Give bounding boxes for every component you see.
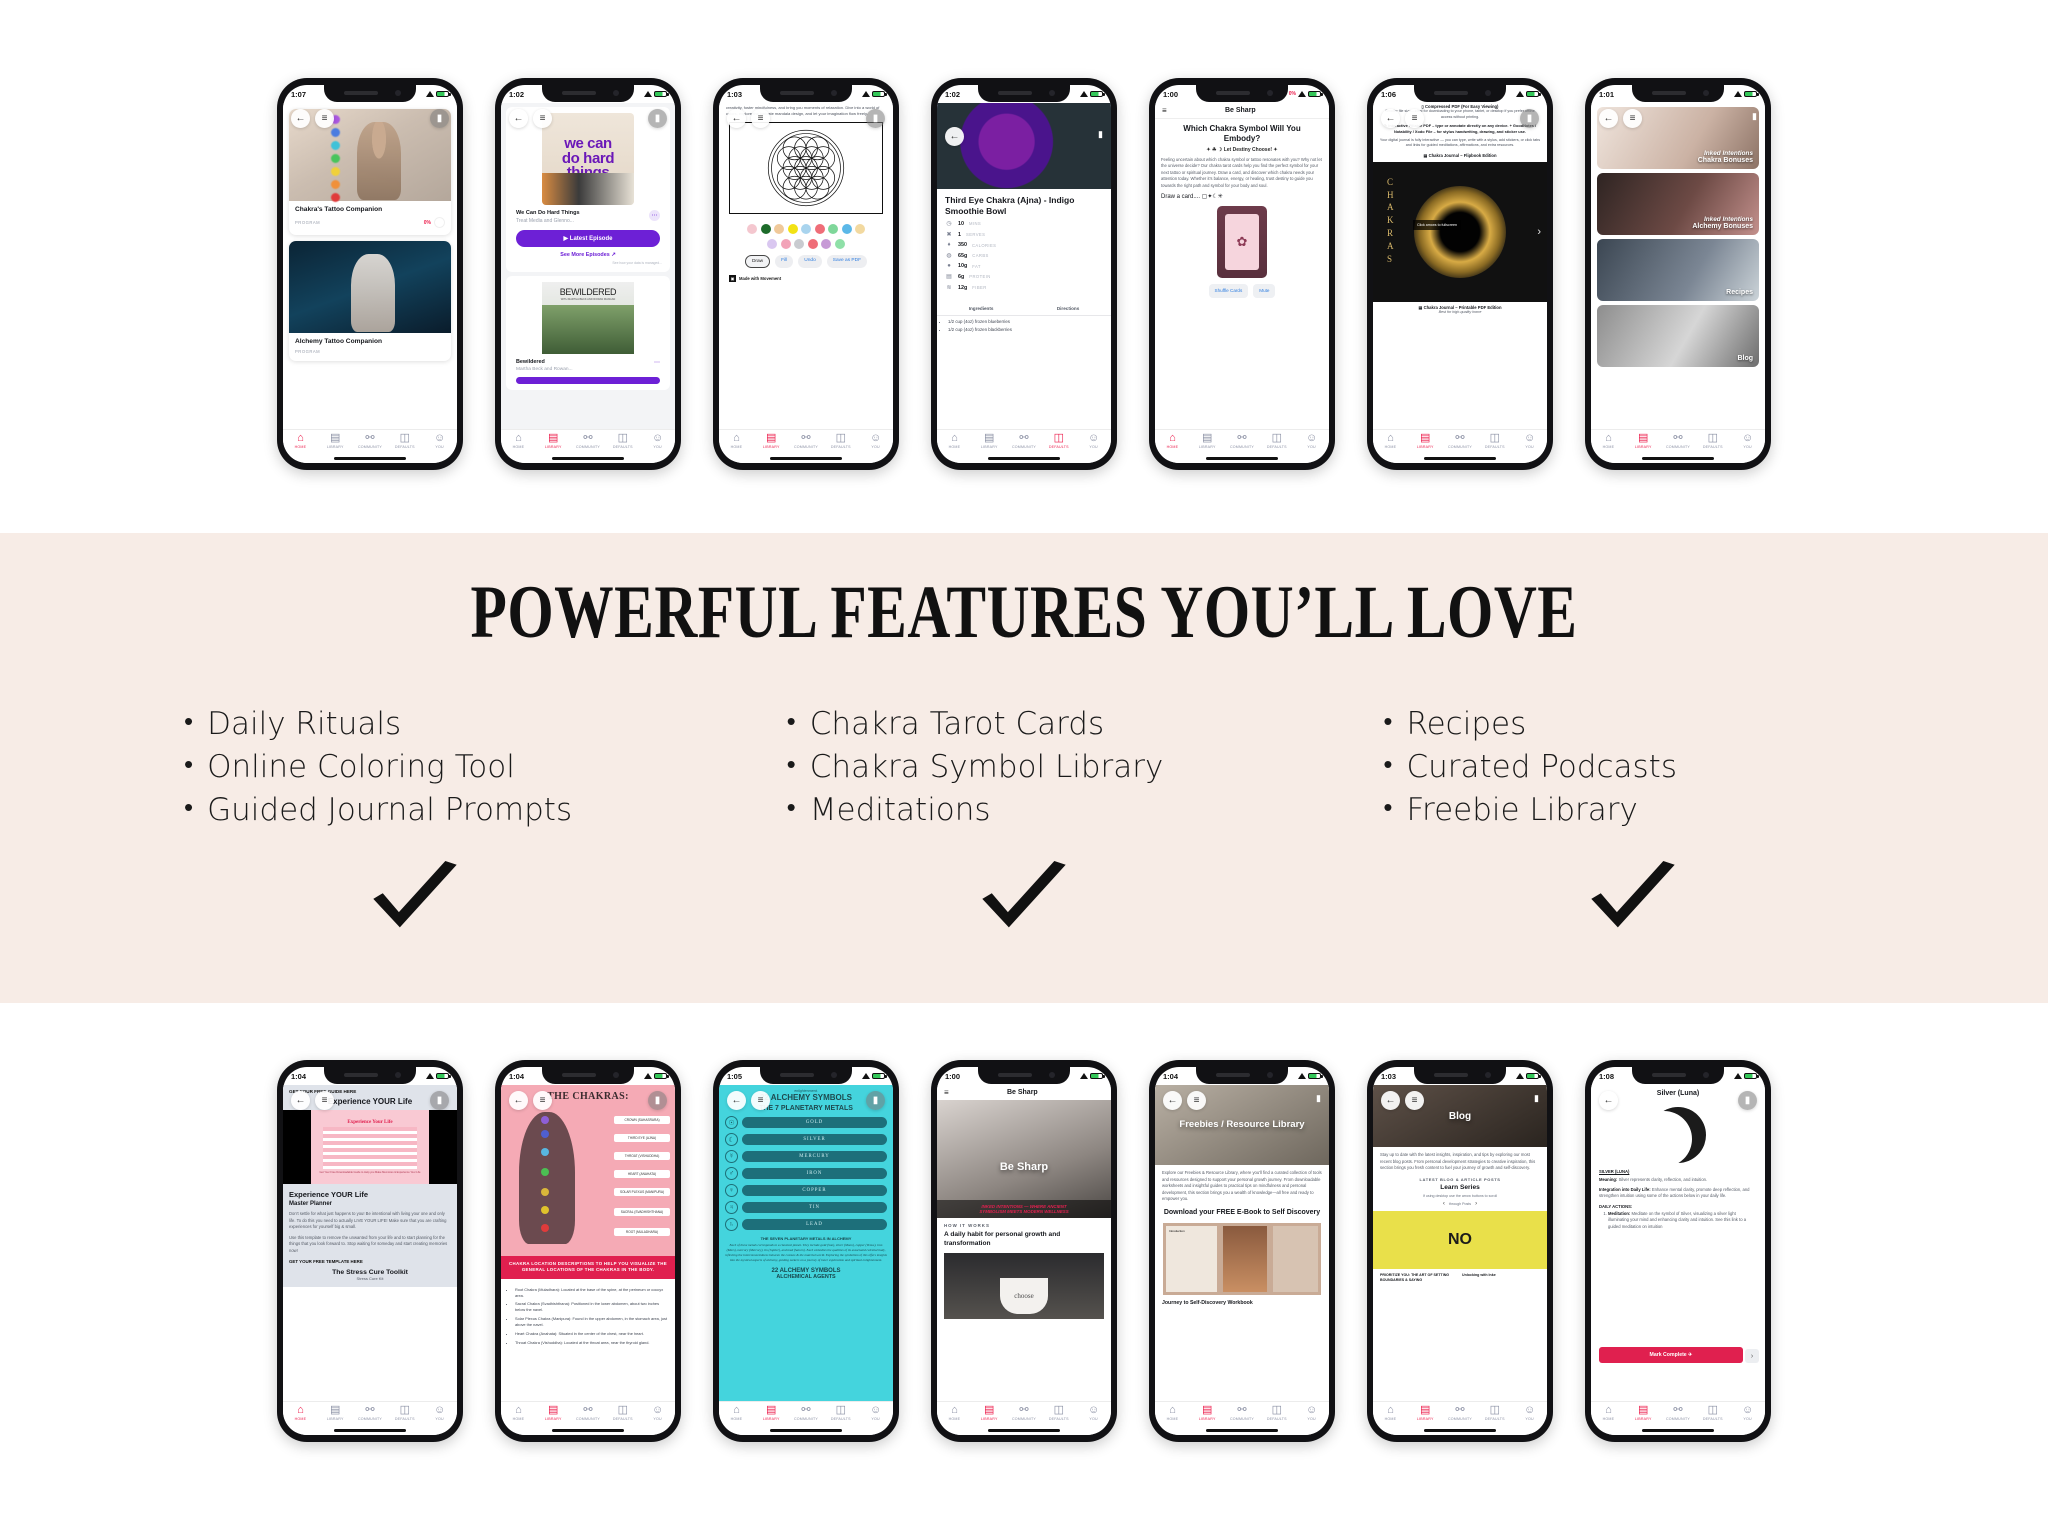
section-label: HOW IT WORKS bbox=[944, 1223, 1104, 1228]
community-icon: ⚯ bbox=[1673, 1405, 1682, 1416]
swatch[interactable] bbox=[767, 239, 777, 249]
battery-icon bbox=[1308, 91, 1321, 98]
tab-defaults[interactable]: ◫DEFAULTS bbox=[605, 1405, 640, 1421]
tab-community[interactable]: ⚯COMMUNITY bbox=[353, 1405, 388, 1421]
chakra-bullet: Throat Chakra (Vishuddha): Located at th… bbox=[515, 1340, 669, 1346]
tab-you[interactable]: ☺YOU bbox=[858, 433, 893, 449]
bullet-icon: • bbox=[184, 746, 193, 785]
defaults-icon: ◫ bbox=[618, 1405, 628, 1416]
tab-home[interactable]: ⌂HOME bbox=[937, 433, 972, 449]
tab-community[interactable]: ⚯COMMUNITY bbox=[353, 433, 388, 449]
defaults-icon: ◫ bbox=[1272, 433, 1282, 444]
menu-icon[interactable]: ≡ bbox=[751, 1091, 770, 1110]
phone-be-sharp-habit: 1:00 ≡ Be Sharp Be Sharp INKED INTENTION… bbox=[931, 1060, 1117, 1442]
tagline: A daily habit for personal growth and tr… bbox=[944, 1231, 1104, 1248]
tab-home[interactable]: ⌂HOME bbox=[501, 1405, 536, 1421]
bullet-icon: • bbox=[787, 746, 796, 785]
quiz-body: Feeling uncertain about which chakra sym… bbox=[1161, 157, 1323, 190]
tarot-controls[interactable]: Shuffle Cards Mute bbox=[1161, 284, 1323, 298]
nav-bubbles[interactable]: ← ≡ bbox=[1163, 1091, 1206, 1110]
progress-label: 0% bbox=[1289, 91, 1296, 97]
tab-community[interactable]: ⚯COMMUNITY bbox=[1007, 1405, 1042, 1421]
phone-coloring-tool: 1:03 ← ≡ ▮ creativity, foster mindfulnes… bbox=[713, 78, 899, 470]
wifi-icon bbox=[1734, 1073, 1742, 1079]
tab-community[interactable]: ⚯COMMUNITY bbox=[1443, 1405, 1478, 1421]
tab-library[interactable]: ▤LIBRARY bbox=[1190, 433, 1225, 449]
tab-community[interactable]: ⚯COMMUNITY bbox=[1225, 433, 1260, 449]
latest-episode-button[interactable]: ▶ Latest Episode bbox=[516, 230, 660, 247]
check-mark-icon bbox=[976, 861, 1072, 933]
nav-bubbles[interactable]: ← ≡ bbox=[727, 109, 770, 128]
chevron-left-icon[interactable]: ‹ bbox=[1443, 1201, 1445, 1207]
nutrition-row: ●10gFAT bbox=[945, 263, 1103, 269]
defaults-icon: ◫ bbox=[1708, 1405, 1718, 1416]
wifi-icon bbox=[862, 91, 870, 97]
daily-label: DAILY ACTIONS: bbox=[1599, 1204, 1757, 1209]
bookmark-icon[interactable]: ▮ bbox=[648, 1091, 667, 1110]
battery-icon bbox=[1090, 91, 1103, 98]
nav-bubbles[interactable]: ← ≡ bbox=[1599, 109, 1642, 128]
screen-content: creativity, foster mindfulness, and brin… bbox=[719, 103, 893, 429]
tab-home[interactable]: ⌂HOME bbox=[937, 1405, 972, 1421]
tab-home[interactable]: ⌂HOME bbox=[283, 433, 318, 449]
undo-button[interactable]: Undo bbox=[798, 255, 821, 268]
draw-button[interactable]: Draw bbox=[745, 255, 770, 268]
library-icon: ▤ bbox=[1202, 433, 1212, 444]
color-palette-row-1[interactable] bbox=[719, 219, 893, 234]
swatch[interactable] bbox=[842, 224, 852, 234]
home-indicator bbox=[1424, 1429, 1496, 1432]
card-title: Chakra's Tattoo Companion bbox=[295, 206, 445, 214]
tab-defaults[interactable]: ◫DEFAULTS bbox=[823, 1405, 858, 1421]
planner-preview: Experience Your Life Get Your Free Downl… bbox=[283, 1110, 457, 1184]
chakra-dot-heart bbox=[541, 1168, 549, 1176]
screen-content: Chakra's Tattoo Companion PROGRAM 0% bbox=[283, 103, 457, 429]
tab-defaults[interactable]: ◫DEFAULTS bbox=[387, 433, 422, 449]
tab-you[interactable]: ☺YOU bbox=[640, 1405, 675, 1421]
tab-home[interactable]: ⌂HOME bbox=[1155, 433, 1190, 449]
community-icon: ⚯ bbox=[1019, 433, 1028, 444]
shuffle-cards-button[interactable]: Shuffle Cards bbox=[1209, 284, 1249, 298]
metal-row[interactable]: ♂IRON bbox=[725, 1167, 887, 1180]
nav-bubbles[interactable]: ← ≡ bbox=[1381, 109, 1424, 128]
swatch[interactable] bbox=[808, 239, 818, 249]
more-options-icon[interactable]: ⋯ bbox=[649, 210, 660, 221]
library-icon: ▤ bbox=[1638, 1405, 1648, 1416]
program-card[interactable]: Alchemy Tattoo Companion PROGRAM bbox=[289, 241, 451, 361]
mug-word: choose bbox=[1000, 1278, 1048, 1314]
tab-you[interactable]: ☺YOU bbox=[1730, 1405, 1765, 1421]
you-icon: ☺ bbox=[1742, 433, 1753, 444]
swatch[interactable] bbox=[781, 239, 791, 249]
bullet-icon: • bbox=[1383, 789, 1392, 828]
phone-chakra-tattoo-companion: 1:07 ← ≡ ▮ bbox=[277, 78, 463, 470]
bookmark-icon[interactable]: ▮ bbox=[1738, 1091, 1757, 1110]
tab-ingredients[interactable]: Ingredients bbox=[969, 306, 994, 311]
card-title: Alchemy Tattoo Companion bbox=[295, 338, 445, 346]
mute-button[interactable]: Mute bbox=[1253, 284, 1275, 298]
screen-content: THE CHAKRAS: CROWN (SAHASRARA) THIRD EYE… bbox=[501, 1085, 675, 1401]
menu-tile-blog[interactable]: Blog bbox=[1597, 305, 1759, 367]
feature-item: •Daily Rituals bbox=[184, 703, 739, 746]
swatch[interactable] bbox=[761, 224, 771, 234]
chakra-label: ROOT (MULADHARA) bbox=[614, 1228, 670, 1236]
nutrition-row: ▤6gPROTEIN bbox=[945, 273, 1103, 280]
tab-defaults[interactable]: ◫DEFAULTS bbox=[1259, 433, 1294, 449]
tab-defaults[interactable]: ◫DEFAULTS bbox=[387, 1405, 422, 1421]
bookmark-icon[interactable]: ▮ bbox=[430, 1091, 449, 1110]
toolkit-title: The Stress Cure Toolkit bbox=[289, 1269, 451, 1276]
ebook-cta[interactable]: Download your FREE E-Book to Self Discov… bbox=[1155, 1209, 1329, 1218]
swatch[interactable] bbox=[835, 239, 845, 249]
tab-defaults[interactable]: ◫DEFAULTS bbox=[1041, 1405, 1076, 1421]
tab-defaults[interactable]: ◫DEFAULTS bbox=[1259, 1405, 1294, 1421]
nav-bubbles[interactable]: ← ≡ bbox=[1381, 1091, 1424, 1110]
tab-home[interactable]: ⌂HOME bbox=[283, 1405, 318, 1421]
chakra-bullet: Heart Chakra (Anahata): Situated in the … bbox=[515, 1331, 669, 1337]
community-icon: ⚯ bbox=[365, 1405, 374, 1416]
community-icon: ⚯ bbox=[1019, 1405, 1028, 1416]
tab-you[interactable]: ☺YOU bbox=[1294, 433, 1329, 449]
section-body: Each of these metals corresponds to a cl… bbox=[725, 1243, 887, 1263]
tab-community[interactable]: ⚯COMMUNITY bbox=[1443, 433, 1478, 449]
screen-content: Blog Stay up to date with the latest ins… bbox=[1373, 1085, 1547, 1401]
check-row bbox=[0, 861, 2048, 933]
you-icon: ☺ bbox=[1306, 1405, 1317, 1416]
daily-action-item: Meditation: Meditate on the symbol of Si… bbox=[1608, 1211, 1757, 1231]
home-icon: ⌂ bbox=[733, 1405, 740, 1416]
swatch[interactable] bbox=[747, 224, 757, 234]
tab-you[interactable]: ☺YOU bbox=[1512, 1405, 1547, 1421]
bookmark-icon[interactable]: ▮ bbox=[648, 109, 667, 128]
defaults-icon: ◫ bbox=[618, 433, 628, 444]
swatch[interactable] bbox=[855, 224, 865, 234]
printable-sub: Best for high-quality home bbox=[1373, 310, 1547, 314]
tab-library[interactable]: ▤LIBRARY bbox=[318, 1405, 353, 1421]
tab-library[interactable]: ▤LIBRARY bbox=[318, 433, 353, 449]
flipbook-viewer[interactable]: CHAKRAS Click arrows to fullscreen › bbox=[1373, 162, 1547, 302]
tab-defaults[interactable]: ◫DEFAULTS bbox=[1695, 433, 1730, 449]
tin-symbol-icon: ♃ bbox=[725, 1201, 738, 1214]
status-time: 1:07 bbox=[291, 90, 306, 99]
menu-icon[interactable]: ≡ bbox=[1623, 109, 1642, 128]
marketing-showcase-page: 1:07 ← ≡ ▮ bbox=[0, 0, 2048, 1536]
integration-row: Integration into Daily Life: Enhance men… bbox=[1599, 1187, 1757, 1200]
nav-bubbles[interactable]: ← ≡ bbox=[291, 109, 334, 128]
back-icon[interactable]: ← bbox=[727, 1091, 746, 1110]
iron-symbol-icon: ♂ bbox=[725, 1167, 738, 1180]
tab-defaults[interactable]: ◫DEFAULTS bbox=[1477, 433, 1512, 449]
flower-of-life-icon bbox=[765, 127, 847, 209]
bookmark-icon[interactable]: ▮ bbox=[1534, 1093, 1539, 1104]
tab-you[interactable]: ☺YOU bbox=[1512, 433, 1547, 449]
status-time: 1:08 bbox=[1599, 1072, 1614, 1081]
tab-you[interactable]: ☺YOU bbox=[858, 1405, 893, 1421]
latest-episode-button-2[interactable] bbox=[516, 377, 660, 384]
tab-you[interactable]: ☺YOU bbox=[1076, 1405, 1111, 1421]
swatch[interactable] bbox=[828, 224, 838, 234]
wifi-icon bbox=[1516, 91, 1524, 97]
tarot-card[interactable]: ✿ bbox=[1217, 206, 1267, 278]
tab-defaults[interactable]: ◫DEFAULTS bbox=[1695, 1405, 1730, 1421]
nav-bubbles[interactable]: ← ≡ bbox=[291, 1091, 334, 1110]
metal-row[interactable]: ☉GOLD bbox=[725, 1116, 887, 1129]
metal-row[interactable]: ♀COPPER bbox=[725, 1184, 887, 1197]
defaults-icon: ◫ bbox=[1490, 1405, 1500, 1416]
tab-community[interactable]: ⚯COMMUNITY bbox=[1007, 433, 1042, 449]
you-icon: ☺ bbox=[652, 433, 663, 444]
tab-community[interactable]: ⚯COMMUNITY bbox=[571, 1405, 606, 1421]
metal-row[interactable]: ☾SILVER bbox=[725, 1133, 887, 1146]
back-icon[interactable]: ← bbox=[945, 127, 964, 146]
back-icon[interactable]: ← bbox=[291, 109, 310, 128]
post-title-2[interactable]: Unlocking with Inke bbox=[1462, 1273, 1540, 1283]
menu-icon[interactable]: ≡ bbox=[1405, 109, 1424, 128]
bookmark-icon[interactable]: ▮ bbox=[1098, 129, 1103, 140]
defaults-icon: ◫ bbox=[400, 433, 410, 444]
mark-complete-button[interactable]: Mark Complete ✈ bbox=[1599, 1347, 1743, 1363]
tab-community[interactable]: ⚯COMMUNITY bbox=[1661, 1405, 1696, 1421]
menu-icon[interactable]: ≡ bbox=[315, 1091, 334, 1110]
menu-icon[interactable]: ≡ bbox=[751, 109, 770, 128]
bookmark-icon[interactable]: ▮ bbox=[1520, 109, 1539, 128]
bookmark-icon[interactable]: ▮ bbox=[430, 109, 449, 128]
tab-home[interactable]: ⌂HOME bbox=[1591, 1405, 1626, 1421]
home-indicator bbox=[1206, 457, 1278, 460]
silver-symbol-icon: ☾ bbox=[725, 1133, 738, 1146]
tab-you[interactable]: ☺YOU bbox=[1294, 1405, 1329, 1421]
back-icon[interactable]: ← bbox=[1599, 1091, 1618, 1110]
menu-icon[interactable]: ≡ bbox=[1405, 1091, 1424, 1110]
feature-item: •Chakra Tarot Cards bbox=[787, 703, 1342, 746]
nutrition-row: ◍65gCARBS bbox=[945, 252, 1103, 259]
back-icon[interactable]: ← bbox=[1163, 1091, 1182, 1110]
swatch[interactable] bbox=[821, 239, 831, 249]
nav-bubbles[interactable]: ← ≡ bbox=[509, 109, 552, 128]
descriptions-banner: CHAKRA LOCATION DESCRIPTIONS TO HELP YOU… bbox=[501, 1256, 675, 1279]
top-phone-row: 1:07 ← ≡ ▮ bbox=[0, 78, 2048, 470]
draw-card-label: Draw a card.... ▢✦☾✳ bbox=[1161, 193, 1323, 200]
toolkit-sub: Stress Cure Kit bbox=[289, 1276, 451, 1281]
home-indicator bbox=[988, 457, 1060, 460]
back-icon[interactable]: ← bbox=[727, 109, 746, 128]
menu-tile-alchemy-bonuses[interactable]: Inked Intentions Alchemy Bonuses bbox=[1597, 173, 1759, 235]
back-icon[interactable]: ← bbox=[509, 109, 528, 128]
metal-row[interactable]: ♃TIN bbox=[725, 1201, 887, 1214]
tab-defaults[interactable]: ◫DEFAULTS bbox=[1477, 1405, 1512, 1421]
tab-library[interactable]: ▤LIBRARY bbox=[972, 1405, 1007, 1421]
save-pdf-button[interactable]: Save as PDF bbox=[827, 255, 867, 268]
community-icon: ⚯ bbox=[1455, 433, 1464, 444]
tab-library[interactable]: ▤LIBRARY bbox=[1408, 1405, 1443, 1421]
planner-title: Experience YOUR Life bbox=[289, 1190, 451, 1199]
tab-defaults[interactable]: ◫DEFAULTS bbox=[605, 433, 640, 449]
tab-home[interactable]: ⌂HOME bbox=[1373, 433, 1408, 449]
tab-defaults[interactable]: ◫DEFAULTS bbox=[1041, 433, 1076, 449]
wifi-icon bbox=[862, 1073, 870, 1079]
blog-body: Stay up to date with the latest insights… bbox=[1373, 1147, 1547, 1172]
home-indicator bbox=[1424, 457, 1496, 460]
feature-item: •Chakra Symbol Library bbox=[787, 746, 1342, 789]
back-icon[interactable]: ← bbox=[1381, 109, 1400, 128]
menu-icon[interactable]: ≡ bbox=[1187, 1091, 1206, 1110]
tool-row[interactable]: Draw Fill Undo Save as PDF bbox=[719, 249, 893, 268]
section-title: THE SEVEN PLANETARY METALS IN ALCHEMY bbox=[725, 1236, 887, 1241]
mercury-symbol-icon: ☿ bbox=[725, 1150, 738, 1163]
back-icon[interactable]: ← bbox=[1381, 1091, 1400, 1110]
home-icon: ⌂ bbox=[951, 1405, 958, 1416]
menu-icon[interactable]: ≡ bbox=[533, 109, 552, 128]
tab-library[interactable]: ▤LIBRARY bbox=[1408, 433, 1443, 449]
tab-home[interactable]: ⌂HOME bbox=[1373, 1405, 1408, 1421]
menu-tile-recipes[interactable]: Recipes bbox=[1597, 239, 1759, 301]
mug-photo: choose bbox=[944, 1253, 1104, 1319]
nav-bubbles[interactable]: ← bbox=[945, 127, 964, 146]
recipe-tabs[interactable]: Ingredients Directions bbox=[937, 302, 1111, 316]
status-time: 1:03 bbox=[1381, 1072, 1396, 1081]
color-palette-row-2[interactable] bbox=[719, 234, 893, 249]
tab-community[interactable]: ⚯COMMUNITY bbox=[789, 433, 824, 449]
back-icon[interactable]: ← bbox=[1599, 109, 1618, 128]
metal-row[interactable]: ☿MERCURY bbox=[725, 1150, 887, 1163]
tab-defaults[interactable]: ◫DEFAULTS bbox=[823, 433, 858, 449]
menu-icon[interactable]: ≡ bbox=[533, 1091, 552, 1110]
tab-library[interactable]: ▤LIBRARY bbox=[754, 1405, 789, 1421]
tab-library[interactable]: ▤LIBRARY bbox=[536, 433, 571, 449]
tab-library[interactable]: ▤LIBRARY bbox=[972, 433, 1007, 449]
phone-chakra-journal: 1:06 ← ≡ ▮ ▯ Compressed PDF (For Easy Vi… bbox=[1367, 78, 1553, 470]
defaults-icon: ◫ bbox=[1272, 1405, 1282, 1416]
meaning-row: Meaning: Silver represents clarity, refl… bbox=[1599, 1177, 1757, 1184]
tab-home[interactable]: ⌂HOME bbox=[1591, 433, 1626, 449]
library-icon: ▤ bbox=[766, 433, 776, 444]
back-icon[interactable]: ← bbox=[291, 1091, 310, 1110]
swatch[interactable] bbox=[801, 224, 811, 234]
swatch[interactable] bbox=[815, 224, 825, 234]
tab-home[interactable]: ⌂HOME bbox=[719, 433, 754, 449]
feature-columns: •Daily Rituals •Online Coloring Tool • G… bbox=[0, 703, 2048, 831]
back-icon[interactable]: ← bbox=[509, 1091, 528, 1110]
phone-notch bbox=[1414, 85, 1506, 102]
planner-cta[interactable]: GET YOUR FREE TEMPLATE HERE bbox=[289, 1259, 451, 1264]
tab-community[interactable]: ⚯COMMUNITY bbox=[571, 433, 606, 449]
nutrition-row: ♦350CALORIES bbox=[945, 242, 1103, 248]
battery-icon bbox=[1526, 1073, 1539, 1080]
nav-bubbles[interactable]: ← ≡ bbox=[509, 1091, 552, 1110]
status-time: 1:00 bbox=[945, 1072, 960, 1081]
library-icon: ▤ bbox=[548, 1405, 558, 1416]
fullscreen-tip: Click arrows to fullscreen bbox=[1413, 220, 1461, 230]
community-icon: ⚯ bbox=[583, 433, 592, 444]
tab-library[interactable]: ▤LIBRARY bbox=[536, 1405, 571, 1421]
chakra-label: HEART (ANAHATA) bbox=[614, 1170, 670, 1178]
bullet-icon: • bbox=[1383, 746, 1392, 785]
planner-para-1: Don't settle for what just happens to yo… bbox=[289, 1211, 451, 1231]
metal-row[interactable]: ♄LEAD bbox=[725, 1218, 887, 1231]
tab-home[interactable]: ⌂HOME bbox=[1155, 1405, 1190, 1421]
home-icon: ⌂ bbox=[1605, 433, 1612, 444]
tab-you[interactable]: ☺YOU bbox=[1730, 433, 1765, 449]
tab-library[interactable]: ▤LIBRARY bbox=[754, 433, 789, 449]
phone-notch bbox=[978, 85, 1070, 102]
fill-button[interactable]: Fill bbox=[775, 255, 793, 268]
status-time: 1:02 bbox=[509, 90, 524, 99]
home-icon: ⌂ bbox=[733, 433, 740, 444]
menu-icon[interactable]: ≡ bbox=[315, 109, 334, 128]
feature-column-2: •Chakra Tarot Cards •Chakra Symbol Libra… bbox=[739, 703, 1342, 831]
tab-home[interactable]: ⌂HOME bbox=[719, 1405, 754, 1421]
wifi-icon bbox=[644, 1073, 652, 1079]
progress-ring-icon bbox=[434, 217, 445, 228]
wifi-icon bbox=[1298, 91, 1306, 97]
next-button[interactable]: › bbox=[1745, 1349, 1759, 1363]
tab-library[interactable]: ▤LIBRARY bbox=[1626, 1405, 1661, 1421]
home-icon: ⌂ bbox=[515, 1405, 522, 1416]
tab-home[interactable]: ⌂HOME bbox=[501, 433, 536, 449]
tab-community[interactable]: ⚯COMMUNITY bbox=[789, 1405, 824, 1421]
more-options-icon[interactable]: ⋯ bbox=[654, 359, 660, 372]
post-nav[interactable]: ‹ through Posts › bbox=[1373, 1201, 1547, 1207]
tab-community[interactable]: ⚯COMMUNITY bbox=[1661, 433, 1696, 449]
series-title: Learn Series bbox=[1373, 1184, 1547, 1191]
phone-silver-luna: 1:08 ← ▮ Silver (Luna) SILVER (LUNA) Mea… bbox=[1585, 1060, 1771, 1442]
chevron-right-icon[interactable]: › bbox=[1475, 1201, 1477, 1207]
bookmark-icon[interactable]: ▮ bbox=[866, 1091, 885, 1110]
tab-you[interactable]: ☺YOU bbox=[1076, 433, 1111, 449]
nav-bubbles[interactable]: ← ≡ bbox=[727, 1091, 770, 1110]
phone-chakra-locations: 1:04 ← ≡ ▮ THE CHAKRAS: bbox=[495, 1060, 681, 1442]
home-icon: ⌂ bbox=[297, 433, 304, 444]
chevron-right-icon[interactable]: › bbox=[1537, 226, 1541, 238]
post-title-1[interactable]: PRIORITIZE YOU: THE ART OF SETTING BOUND… bbox=[1380, 1273, 1458, 1283]
you-icon: ☺ bbox=[1524, 433, 1535, 444]
defaults-icon: ◫ bbox=[1490, 433, 1500, 444]
phone-notch bbox=[324, 85, 416, 102]
phone-notch bbox=[1196, 85, 1288, 102]
home-indicator bbox=[1206, 1429, 1278, 1432]
bookmark-icon[interactable]: ▮ bbox=[1752, 111, 1757, 122]
check-mark-icon bbox=[367, 861, 463, 933]
status-time: 1:06 bbox=[1381, 90, 1396, 99]
tab-library[interactable]: ▤LIBRARY bbox=[1626, 433, 1661, 449]
mandala-canvas[interactable] bbox=[729, 122, 883, 214]
nav-bubbles[interactable]: ← bbox=[1599, 1091, 1618, 1110]
tab-community[interactable]: ⚯COMMUNITY bbox=[1225, 1405, 1260, 1421]
status-time: 1:03 bbox=[727, 90, 742, 99]
swatch[interactable] bbox=[788, 224, 798, 234]
tab-you[interactable]: ☺YOU bbox=[640, 433, 675, 449]
tab-directions[interactable]: Directions bbox=[1057, 306, 1079, 311]
bookmark-icon[interactable]: ▮ bbox=[1316, 1093, 1321, 1104]
podcast-artwork-2: BEWILDERED WITH MARTHA BECK AND ROWAN MA… bbox=[542, 282, 634, 354]
section-label: LATEST BLOG & ARTICLE POSTS bbox=[1373, 1177, 1547, 1182]
check-cell bbox=[110, 861, 719, 933]
post-thumbnail[interactable]: NO bbox=[1373, 1211, 1547, 1269]
battery-icon bbox=[1744, 91, 1757, 98]
tab-you[interactable]: ☺YOU bbox=[422, 1405, 457, 1421]
home-indicator bbox=[988, 1429, 1060, 1432]
tab-library[interactable]: ▤LIBRARY bbox=[1190, 1405, 1225, 1421]
phone-notch bbox=[760, 1067, 852, 1084]
home-icon: ⌂ bbox=[1387, 1405, 1394, 1416]
swatch[interactable] bbox=[774, 224, 784, 234]
tab-you[interactable]: ☺YOU bbox=[422, 433, 457, 449]
alchemy-page: enlightenment. 22 ALCHEMY SYMBOLS THE 7 … bbox=[719, 1085, 893, 1401]
ebook-footer: Journey to Self-Discovery Workbook bbox=[1155, 1295, 1329, 1306]
bookmark-icon[interactable]: ▮ bbox=[866, 109, 885, 128]
screen-content: Freebies / Resource Library Explore our … bbox=[1155, 1085, 1329, 1401]
swatch[interactable] bbox=[794, 239, 804, 249]
